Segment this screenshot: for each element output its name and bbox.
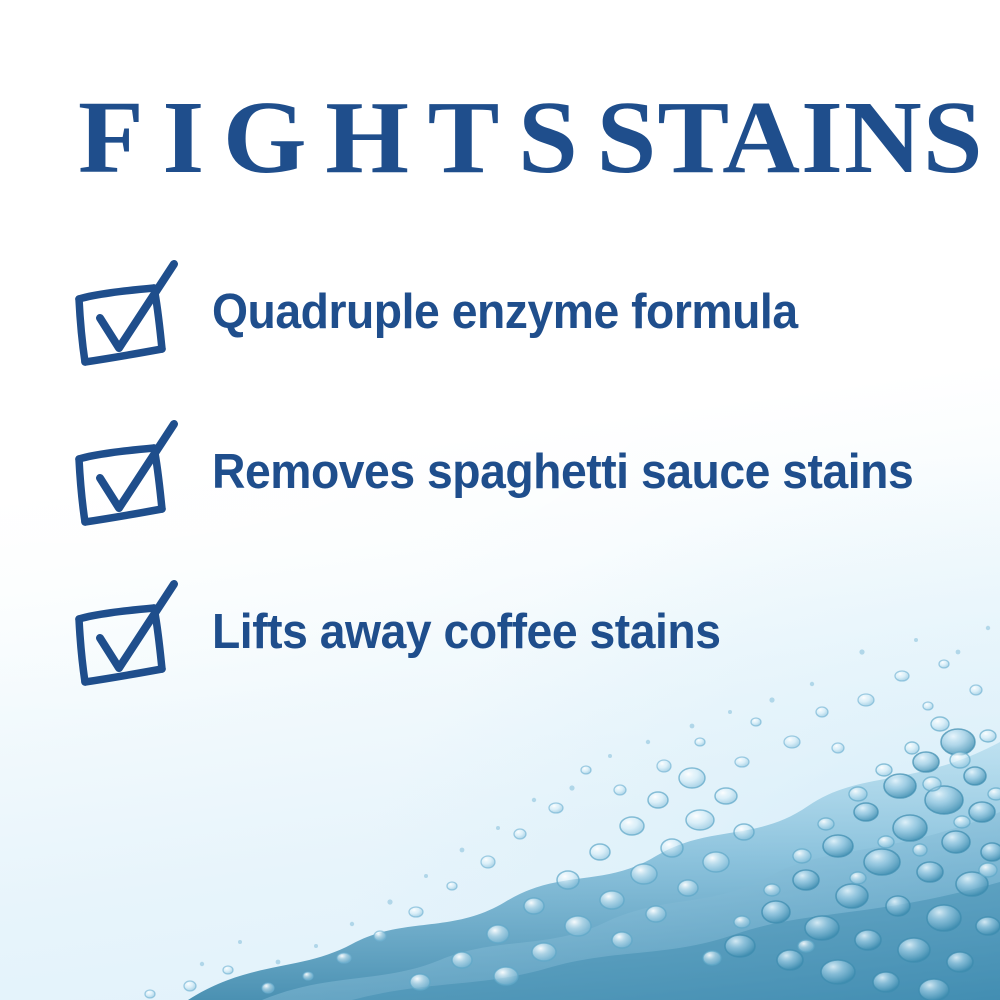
list-item: Lifts away coffee stains (0, 576, 1000, 736)
headline-word-2: STAINS (597, 80, 984, 195)
checkbox-checked-icon (70, 256, 182, 374)
checkbox-checked-icon (70, 576, 182, 694)
page-title: FIGHTSSTAINS (78, 86, 968, 190)
promo-canvas: FIGHTSSTAINS Quadruple enzyme formula (0, 0, 1000, 1000)
list-item-label: Lifts away coffee stains (212, 606, 720, 658)
list-item: Removes spaghetti sauce stains (0, 416, 1000, 576)
checkbox-checked-icon (70, 416, 182, 534)
headline-word-1: FIGHTS (78, 80, 597, 195)
list-item-label: Removes spaghetti sauce stains (212, 446, 913, 498)
benefit-list: Quadruple enzyme formula Removes spaghet… (0, 256, 1000, 736)
list-item-label: Quadruple enzyme formula (212, 286, 798, 338)
list-item: Quadruple enzyme formula (0, 256, 1000, 416)
